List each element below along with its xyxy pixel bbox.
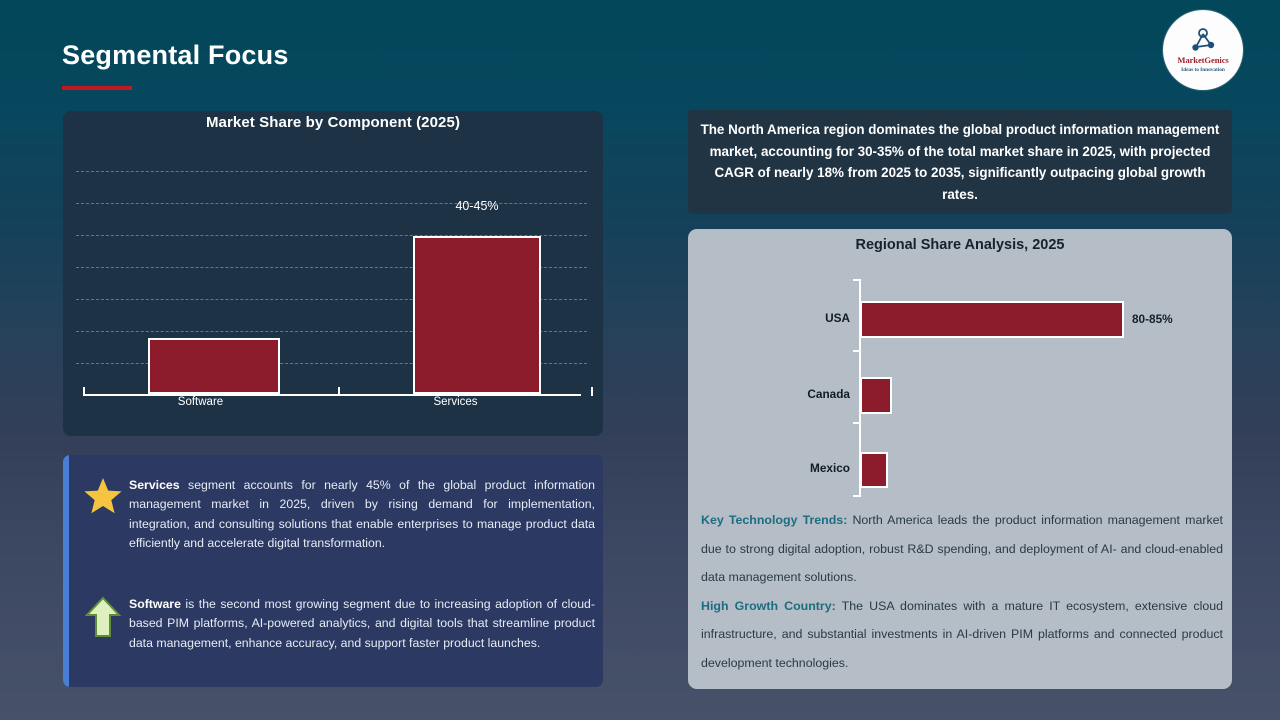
axis-tick bbox=[853, 495, 861, 497]
category-label-services: Services bbox=[328, 396, 583, 408]
insight-body-software: is the second most growing segment due t… bbox=[129, 597, 595, 650]
insight-body-services: segment accounts for nearly 45% of the g… bbox=[129, 478, 595, 550]
company-logo: MarketGenics Ideas to Innovation bbox=[1163, 10, 1243, 90]
insight-lead-software: Software bbox=[129, 597, 181, 611]
network-node-icon bbox=[1186, 27, 1220, 55]
note-lead-key-technology-trends: Key Technology Trends: bbox=[701, 513, 847, 527]
segment-insights-card: Services segment accounts for nearly 45%… bbox=[63, 455, 603, 687]
axis-tick bbox=[591, 387, 593, 396]
insight-accent-bar bbox=[63, 455, 69, 687]
up-arrow-icon bbox=[77, 595, 129, 639]
left-chart-title: Market Share by Component (2025) bbox=[63, 111, 603, 131]
axis-tick bbox=[338, 387, 340, 396]
bar-services[interactable] bbox=[413, 236, 541, 394]
right-chart-plot: USA 80-85% Canada Mexico bbox=[688, 267, 1232, 497]
insight-text-services: Services segment accounts for nearly 45%… bbox=[129, 476, 595, 553]
logo-tagline: Ideas to Innovation bbox=[1181, 67, 1225, 73]
insight-item-software: Software is the second most growing segm… bbox=[77, 595, 595, 653]
insight-item-services: Services segment accounts for nearly 45%… bbox=[77, 476, 595, 553]
insight-lead-services: Services bbox=[129, 478, 180, 492]
axis-tick bbox=[853, 422, 861, 424]
axis-tick bbox=[853, 350, 861, 352]
category-label-mexico: Mexico bbox=[688, 461, 850, 475]
left-chart-plot: 40-45% bbox=[73, 171, 593, 396]
regional-notes: Key Technology Trends: North America lea… bbox=[698, 506, 1226, 677]
category-label-software: Software bbox=[73, 396, 328, 408]
regional-share-card: Regional Share Analysis, 2025 USA 80-85%… bbox=[688, 229, 1232, 689]
logo-name: MarketGenics bbox=[1177, 56, 1228, 65]
page-title: Segmental Focus bbox=[62, 40, 289, 71]
insight-text-software: Software is the second most growing segm… bbox=[129, 595, 595, 653]
note-key-technology-trends: Key Technology Trends: North America lea… bbox=[701, 506, 1223, 592]
bar-usa[interactable] bbox=[860, 301, 1124, 338]
region-callout-text: The North America region dominates the g… bbox=[696, 119, 1224, 205]
title-underline-rule bbox=[62, 86, 132, 90]
market-share-chart-card: Market Share by Component (2025) 40-45% … bbox=[63, 111, 603, 436]
bar-software[interactable] bbox=[148, 338, 280, 394]
bar-value-label-services: 40-45% bbox=[413, 199, 541, 213]
note-high-growth-country: High Growth Country: The USA dominates w… bbox=[701, 592, 1223, 678]
gridline bbox=[76, 171, 587, 172]
bar-value-label-usa: 80-85% bbox=[1132, 312, 1173, 326]
axis-tick bbox=[853, 279, 861, 281]
region-callout-box: The North America region dominates the g… bbox=[688, 110, 1232, 214]
axis-tick bbox=[83, 387, 85, 396]
right-chart-title: Regional Share Analysis, 2025 bbox=[688, 229, 1232, 253]
category-label-usa: USA bbox=[688, 311, 850, 325]
bar-canada[interactable] bbox=[860, 377, 892, 414]
category-label-canada: Canada bbox=[688, 387, 850, 401]
star-icon bbox=[77, 476, 129, 516]
bar-mexico[interactable] bbox=[860, 452, 888, 488]
note-lead-high-growth-country: High Growth Country: bbox=[701, 599, 836, 613]
